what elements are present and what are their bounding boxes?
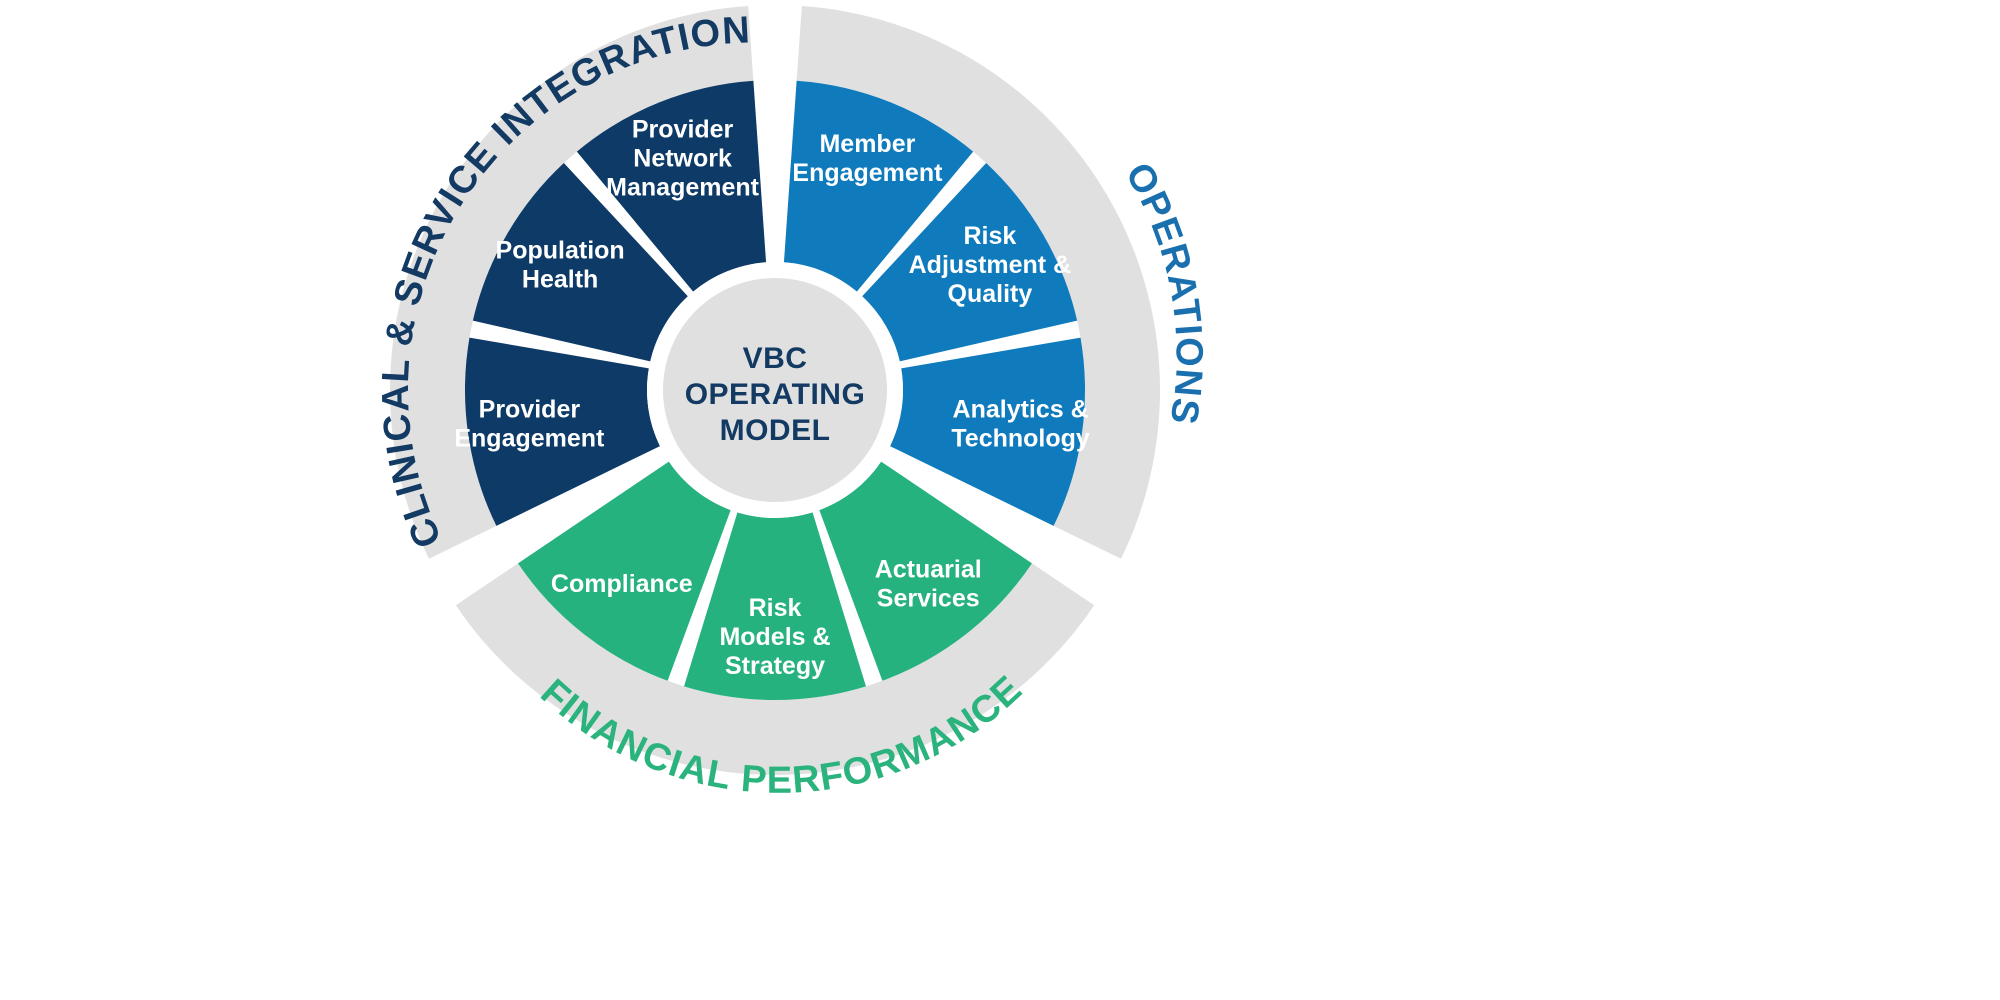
segment-label-line: Risk (963, 222, 1016, 250)
segment-label-line: Engagement (454, 424, 605, 452)
segment-label-line: Analytics & (953, 395, 1089, 423)
segment-label-actuarial-services: ActuarialServices (875, 555, 982, 612)
segment-label-analytics-technology: Analytics &Technology (951, 395, 1090, 452)
segment-label-line: Adjustment & (909, 251, 1072, 279)
segment-label-line: Engagement (792, 159, 943, 187)
segment-label-line: Health (522, 265, 598, 293)
segment-label-line: Member (819, 130, 915, 158)
vbc-operating-model-wheel: ProviderEngagementPopulationHealthProvid… (0, 0, 2000, 1000)
hub-label-line3: MODEL (720, 414, 831, 447)
segment-label-line: Management (606, 173, 759, 201)
segment-label-line: Risk (749, 594, 802, 622)
hub-label-line1: VBC (743, 342, 808, 375)
hub-group: VBC OPERATING MODEL (647, 262, 903, 518)
hub-label-line2: OPERATING (685, 378, 866, 411)
segment-label-compliance: Compliance (551, 570, 693, 598)
segment-label-line: Technology (951, 424, 1090, 452)
segment-label-line: Population (496, 236, 625, 264)
segment-label-line: Compliance (551, 570, 693, 598)
segment-label-line: Quality (948, 280, 1033, 308)
segment-label-line: Services (877, 584, 980, 612)
segment-label-line: Provider (479, 395, 581, 423)
segment-label-line: Strategy (725, 652, 825, 680)
segment-label-line: Provider (632, 115, 734, 143)
segment-label-line: Network (633, 144, 732, 172)
diagram-canvas: ProviderEngagementPopulationHealthProvid… (0, 0, 2000, 1000)
segment-label-line: Actuarial (875, 555, 982, 583)
segment-label-line: Models & (719, 623, 830, 651)
